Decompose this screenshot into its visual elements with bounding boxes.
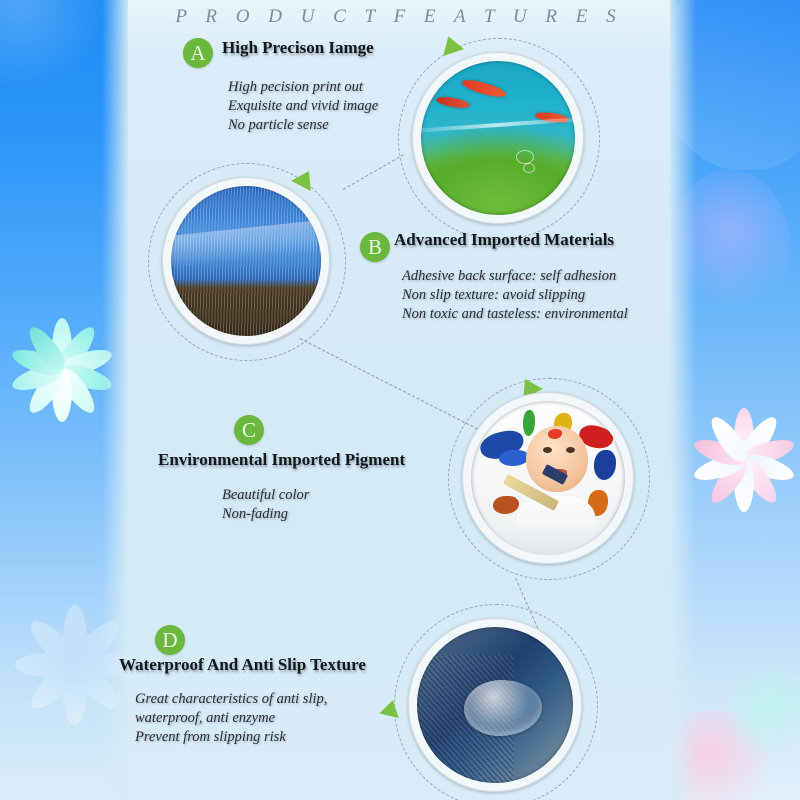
photo-b-wrap [162, 177, 330, 345]
photo-d-wrap [408, 618, 582, 792]
bullet-a-2: Exquisite and vivid image [228, 97, 378, 116]
photo-c-wrap [462, 392, 634, 564]
right-decorative-band [670, 0, 800, 800]
bullets-b: Adhesive back surface: self adhesion Non… [402, 267, 628, 324]
baby-painting-photo [471, 401, 625, 555]
blue-fabric-texture-photo [171, 186, 321, 336]
bullets-d: Great characteristics of anti slip, wate… [135, 690, 327, 747]
bullet-a-1: High pecision print out [228, 78, 378, 97]
heading-a: High Precison Iamge [222, 38, 374, 58]
left-blob-upper [0, 0, 110, 90]
badge-d: D [155, 625, 185, 655]
bullet-c-2: Non-fading [222, 505, 309, 524]
left-band-fade [102, 0, 128, 800]
bullet-a-3: No particle sense [228, 116, 378, 135]
bullet-d-1: Great characteristics of anti slip, [135, 690, 327, 709]
left-decorative-band [0, 0, 128, 800]
badge-b: B [360, 232, 390, 262]
heading-c: Environmental Imported Pigment [158, 450, 405, 470]
photo-a-wrap [412, 52, 584, 224]
heading-b: Advanced Imported Materials [394, 230, 614, 250]
koi-pond-photo [421, 61, 575, 215]
bullet-d-2: waterproof, anti enzyme [135, 709, 327, 728]
page-title: P R O D U C T F E A T U R E S [128, 6, 670, 28]
product-features-infographic: P R O D U C T F E A T U R E S A High Pre… [0, 0, 800, 800]
bullets-a: High pecision print out Exquisite and vi… [228, 78, 378, 135]
bullet-b-3: Non toxic and tasteless: environmental [402, 305, 628, 324]
right-flower-motif [684, 400, 800, 520]
water-droplet-surface-photo [417, 627, 573, 783]
heading-d: Waterproof And Anti Slip Texture [119, 655, 366, 675]
right-band-fade [670, 0, 696, 800]
bullet-d-3: Prevent from slipping risk [135, 728, 327, 747]
bullet-c-1: Beautiful color [222, 486, 309, 505]
bullet-b-2: Non slip texture: avoid slipping [402, 286, 628, 305]
badge-a: A [183, 38, 213, 68]
badge-c: C [234, 415, 264, 445]
bullet-b-1: Adhesive back surface: self adhesion [402, 267, 628, 286]
bullets-c: Beautiful color Non-fading [222, 486, 309, 524]
